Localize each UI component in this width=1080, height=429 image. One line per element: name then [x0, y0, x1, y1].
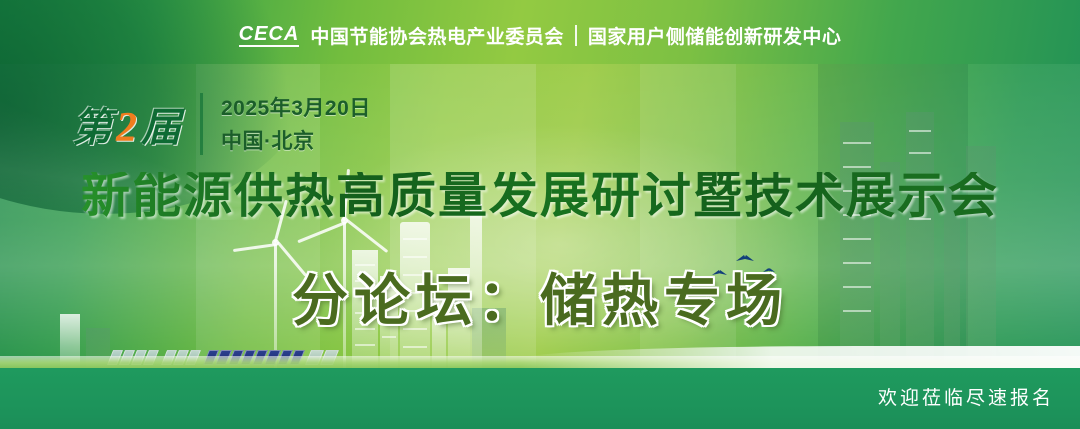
organisation-strip: CECA 中国节能协会热电产业委员会 国家用户侧储能创新研发中心	[0, 20, 1080, 50]
organisation-separator	[575, 25, 577, 46]
organisation-primary: 中国节能协会热电产业委员会	[310, 22, 564, 49]
bird-icon	[735, 253, 753, 262]
welcome-text: 欢迎莅临尽速报名	[878, 383, 1054, 410]
ceca-logo: CECA	[239, 24, 300, 47]
event-location: 中国·北京	[221, 125, 371, 155]
edition-prefix: 第	[72, 95, 113, 153]
event-banner: CECA 中国节能协会热电产业委员会 国家用户侧储能创新研发中心 第 2 届 2…	[0, 0, 1080, 429]
edition-suffix: 届	[141, 95, 182, 153]
edition-label: 第 2 届	[72, 95, 182, 153]
edition-divider	[200, 93, 203, 155]
edition-number: 2	[113, 104, 141, 152]
edition-block: 第 2 届 2025年3月20日 中国·北京	[72, 92, 371, 155]
organisation-secondary: 国家用户侧储能创新研发中心	[588, 22, 842, 49]
event-when-where: 2025年3月20日 中国·北京	[221, 92, 371, 155]
page-title: 新能源供热高质量发展研讨暨技术展示会	[0, 172, 1080, 221]
page-subtitle: 分论坛：储热专场	[0, 272, 1080, 332]
event-date: 2025年3月20日	[221, 92, 371, 122]
